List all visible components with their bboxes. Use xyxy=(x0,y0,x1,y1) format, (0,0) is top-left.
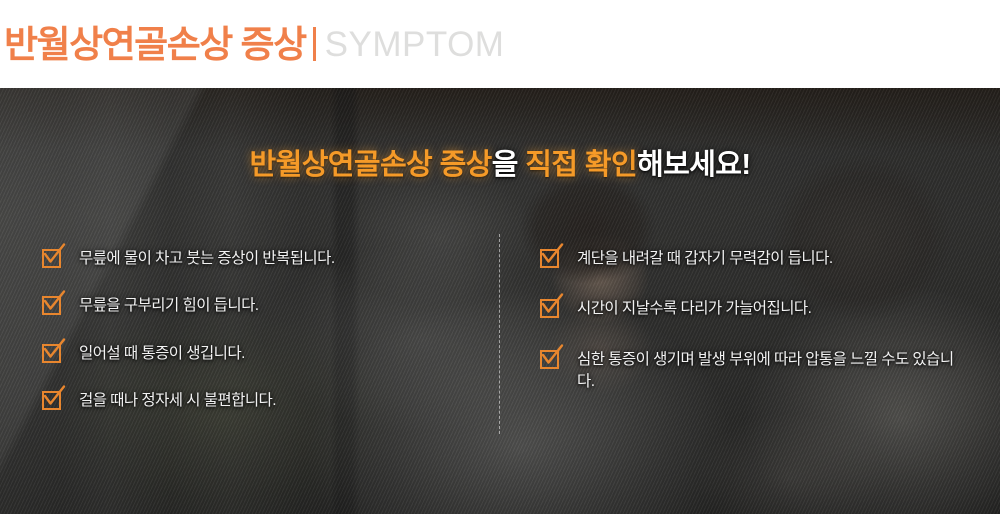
hero-panel: 반월상연골손상 증상을 직접 확인해보세요! 무릎에 물이 차고 붓는 증상이 … xyxy=(0,88,1000,514)
checkbox-checked-icon xyxy=(540,249,561,270)
checkbox-checked-icon xyxy=(42,296,63,317)
list-item-label: 무릎을 구부리기 힘이 듭니다. xyxy=(79,295,259,317)
symptom-list-right: 계단을 내려갈 때 갑자기 무력감이 듭니다. 시간이 지날수록 다리가 가늘어… xyxy=(540,248,960,422)
list-item: 시간이 지날수록 다리가 가늘어집니다. xyxy=(540,298,960,320)
list-item: 일어설 때 통증이 생깁니다. xyxy=(42,343,472,365)
list-item: 무릎을 구부리기 힘이 듭니다. xyxy=(42,295,472,317)
checkbox-checked-icon xyxy=(42,249,63,270)
section-title-bar: 반월상연골손상 증상 SYMPTOM xyxy=(0,0,1000,88)
list-item: 무릎에 물이 차고 붓는 증상이 반복됩니다. xyxy=(42,248,472,270)
list-item-label: 일어설 때 통증이 생깁니다. xyxy=(79,343,245,365)
list-item-label: 걸을 때나 정자세 시 불편합니다. xyxy=(79,390,276,412)
title-separator-bar xyxy=(313,27,316,61)
page-title-korean: 반월상연골손상 증상 xyxy=(4,26,306,63)
page-root: 반월상연골손상 증상 SYMPTOM 반월상연골손상 증상을 직접 확인해보세요… xyxy=(0,0,1000,514)
list-item: 심한 통증이 생기며 발생 부위에 따라 압통을 느낄 수도 있습니다. xyxy=(540,349,960,394)
checkbox-checked-icon xyxy=(42,344,63,365)
list-item-label: 계단을 내려갈 때 갑자기 무력감이 듭니다. xyxy=(577,248,833,270)
list-item-label: 심한 통증이 생기며 발생 부위에 따라 압통을 느낄 수도 있습니다. xyxy=(577,349,960,394)
checkbox-checked-icon xyxy=(42,391,63,412)
checkbox-checked-icon xyxy=(540,299,561,320)
list-item: 계단을 내려갈 때 갑자기 무력감이 듭니다. xyxy=(540,248,960,270)
symptom-columns: 무릎에 물이 차고 붓는 증상이 반복됩니다. 무릎을 구부리기 힘이 듭니다. xyxy=(0,88,1000,514)
checkbox-checked-icon xyxy=(540,350,561,371)
symptom-list-left: 무릎에 물이 차고 붓는 증상이 반복됩니다. 무릎을 구부리기 힘이 듭니다. xyxy=(42,248,472,438)
list-item-label: 시간이 지날수록 다리가 가늘어집니다. xyxy=(577,298,811,320)
page-title-english: SYMPTOM xyxy=(325,27,505,62)
list-item-label: 무릎에 물이 차고 붓는 증상이 반복됩니다. xyxy=(79,248,335,270)
list-item: 걸을 때나 정자세 시 불편합니다. xyxy=(42,390,472,412)
